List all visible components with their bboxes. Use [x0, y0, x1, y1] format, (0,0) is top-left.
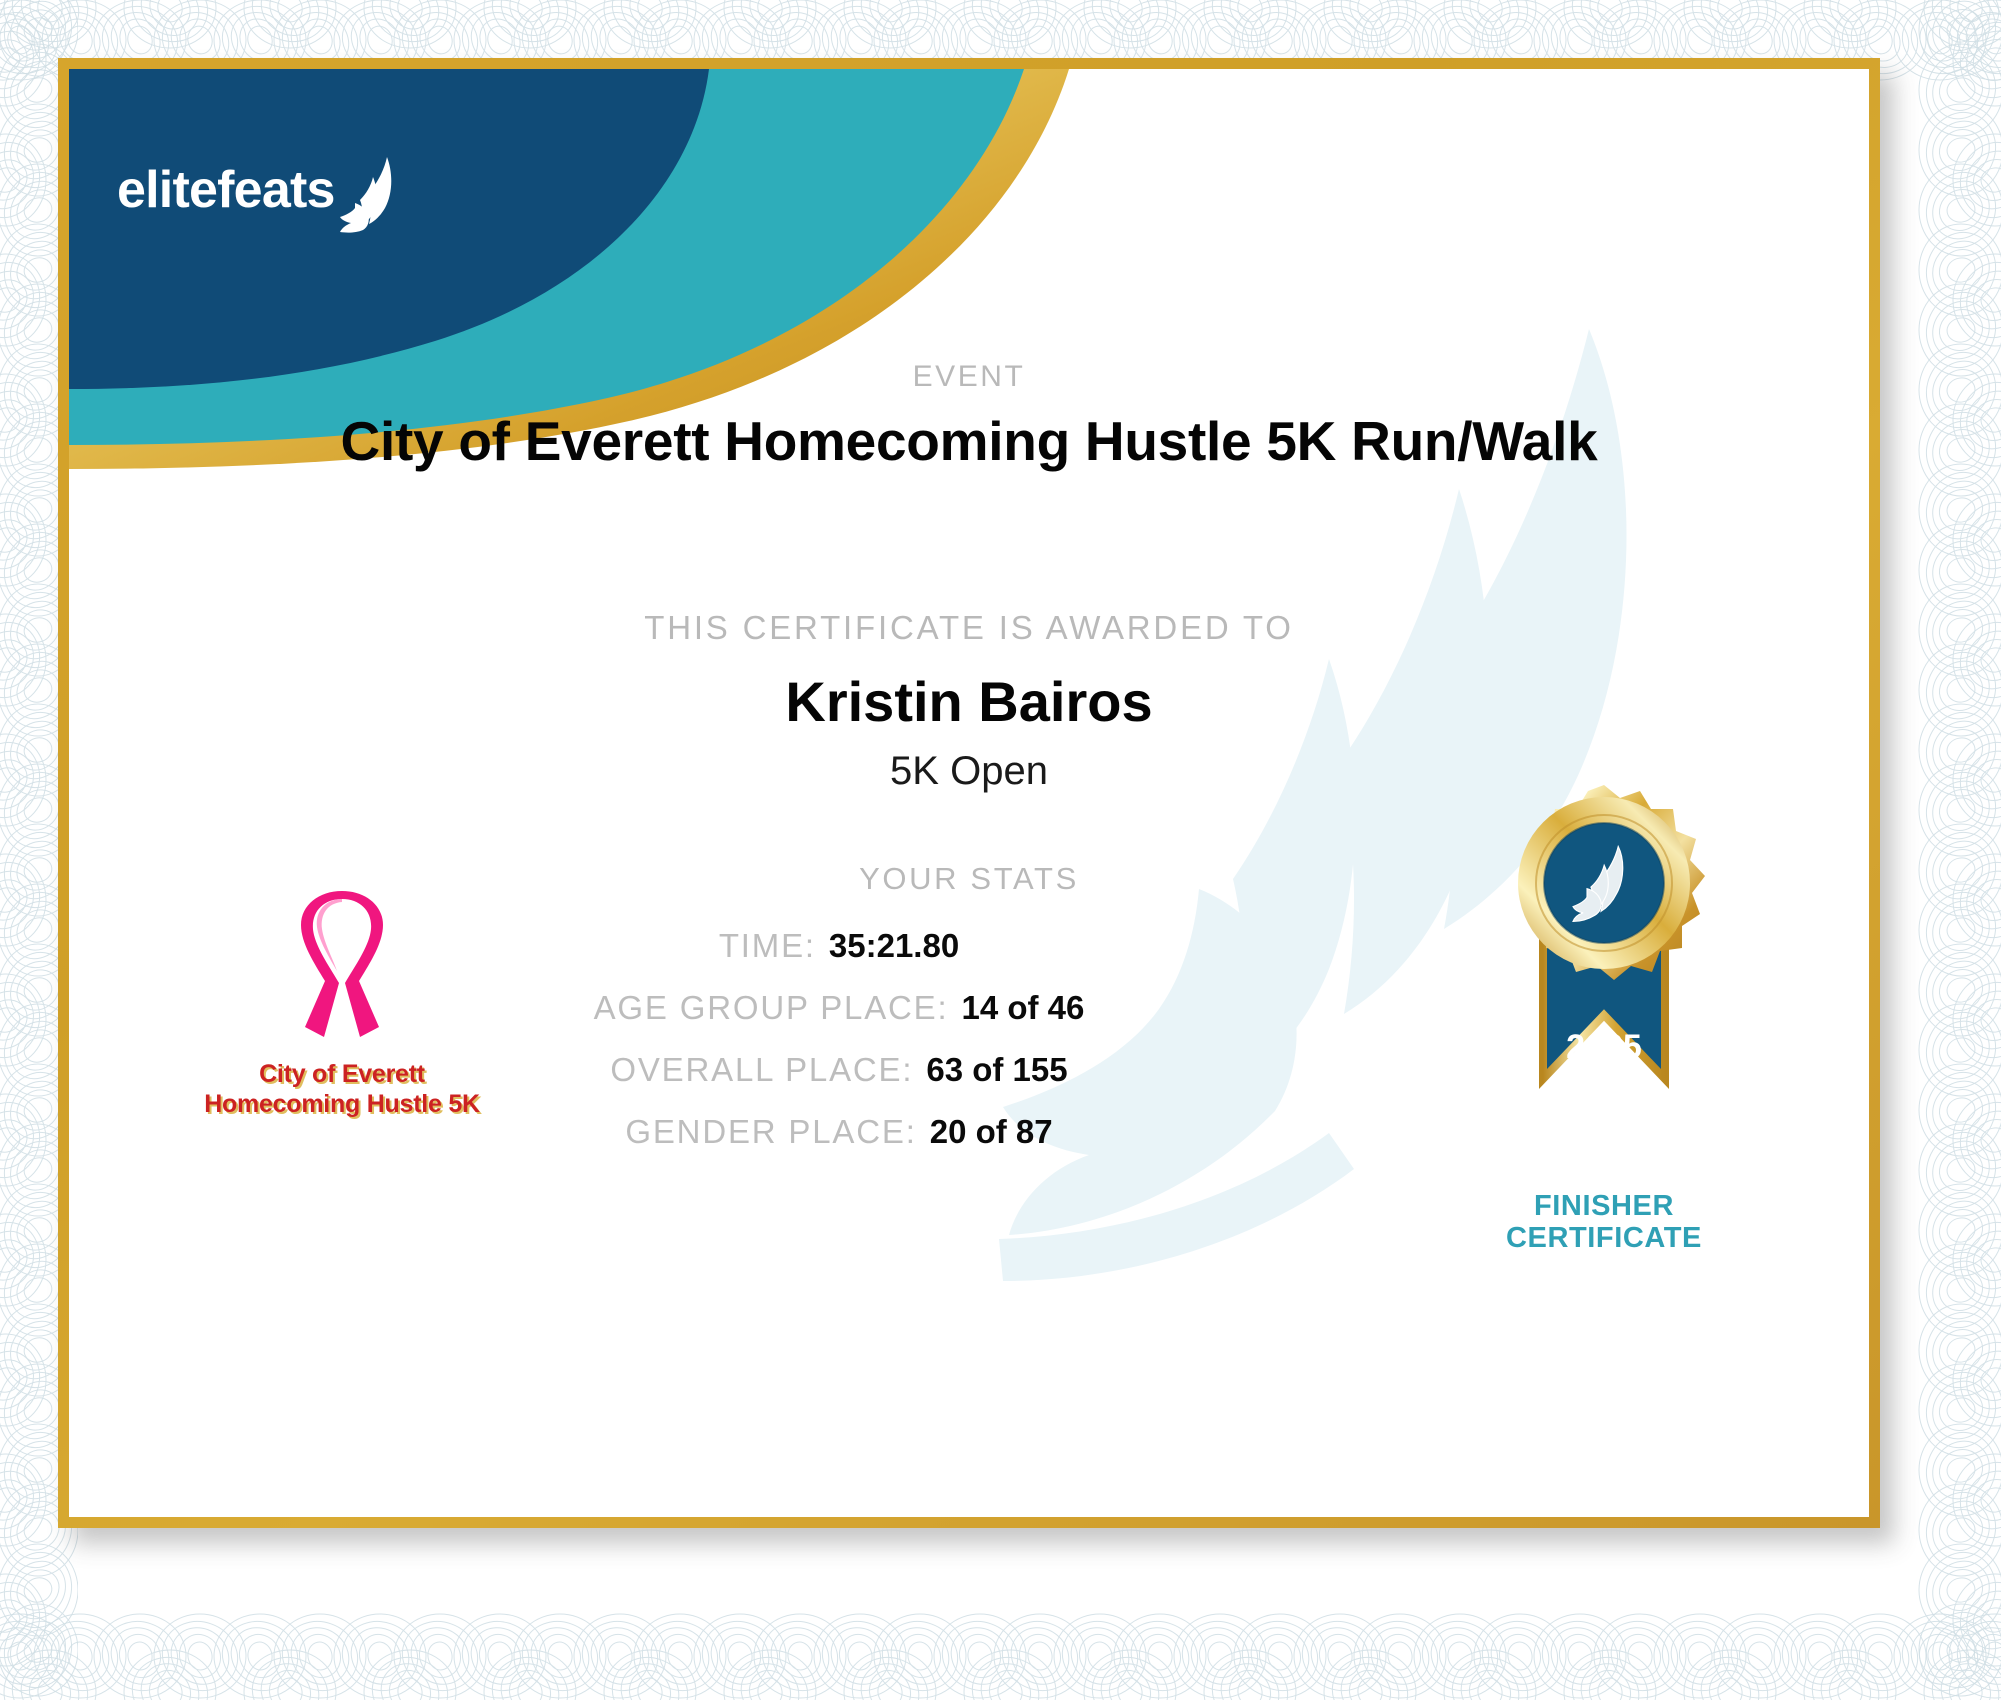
guilloche-border-bottom [0, 1608, 2001, 1700]
stat-value-gender-place: 20 of 87 [930, 1113, 1053, 1151]
event-logo-line2: Homecoming Hustle 5K [187, 1090, 497, 1120]
seal-caption-line1: FINISHER [1469, 1190, 1739, 1222]
seal-year: 2025 [1566, 1028, 1642, 1066]
event-label: EVENT [69, 360, 1869, 394]
certificate-page: elitefeats EVENT City of Everett Homecom… [0, 0, 2001, 1700]
stat-value-age-group-place: 14 of 46 [961, 989, 1084, 1027]
stat-label-age-group-place: AGE GROUP PLACE: [594, 989, 949, 1027]
event-logo-line1: City of Everett [187, 1060, 497, 1090]
seal-caption: FINISHER CERTIFICATE [1469, 1190, 1739, 1255]
pink-awareness-ribbon-icon [277, 889, 407, 1049]
event-logo: City of Everett Homecoming Hustle 5K [187, 889, 497, 1119]
event-title: City of Everett Homecoming Hustle 5K Run… [69, 409, 1869, 473]
guilloche-border-right [1909, 0, 2001, 1700]
certificate-body: elitefeats EVENT City of Everett Homecom… [69, 69, 1869, 1517]
stat-value-overall-place: 63 of 155 [926, 1051, 1067, 1089]
event-logo-text: City of Everett Homecoming Hustle 5K [187, 1060, 497, 1119]
gold-medal-seal-icon: 2025 [1469, 779, 1739, 1179]
certificate-content: EVENT City of Everett Homecoming Hustle … [69, 69, 1869, 1517]
recipient-name: Kristin Bairos [69, 669, 1869, 734]
awarded-to-label: THIS CERTIFICATE IS AWARDED TO [69, 609, 1869, 647]
stat-label-gender-place: GENDER PLACE: [625, 1113, 916, 1151]
certificate-gold-frame: elitefeats EVENT City of Everett Homecom… [58, 58, 1880, 1528]
stat-label-overall-place: OVERALL PLACE: [610, 1051, 913, 1089]
stat-value-time: 35:21.80 [829, 927, 959, 965]
seal-caption-line2: CERTIFICATE [1469, 1222, 1739, 1254]
finisher-seal: 2025 FINISHER CERTIFICATE [1469, 779, 1739, 1255]
stat-label-time: TIME: [719, 927, 816, 965]
